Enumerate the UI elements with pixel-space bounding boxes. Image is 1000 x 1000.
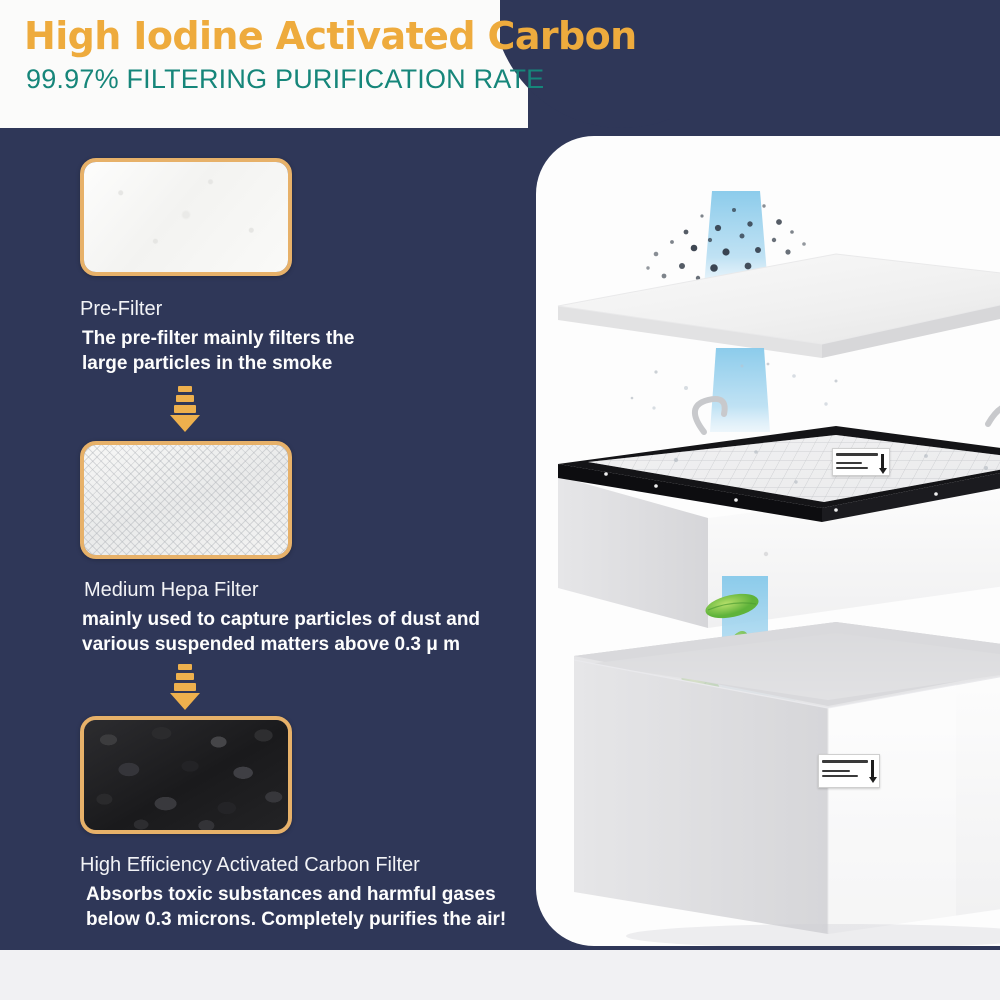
filter-stack-illustration: Medium Carbon Filter Medium Carbon Filte… xyxy=(536,136,1000,946)
product-illustration-card: Medium Carbon Filter Medium Carbon Filte… xyxy=(536,136,1000,946)
activated-carbon-swatch xyxy=(80,716,292,834)
filter-steps-column: Pre-Filter The pre-filter mainly filters… xyxy=(0,96,530,950)
bottom-light-strip xyxy=(0,950,1000,1000)
step-title-carbon-filter: High Efficiency Activated Carbon Filter xyxy=(80,854,420,877)
carbon-box-label-text: Medium Carbon Filter xyxy=(819,777,820,778)
step-body-pre-filter: The pre-filter mainly filters the large … xyxy=(82,326,502,376)
hepa-filter-unit xyxy=(558,399,1000,628)
step-body-line: below 0.3 microns. Completely purifies t… xyxy=(86,907,516,932)
step-body-line: Absorbs toxic substances and harmful gas… xyxy=(86,882,516,907)
page-subtitle: 99.97% FILTERING PURIFICATION RATE xyxy=(26,64,544,95)
carbon-filter-box xyxy=(574,622,1000,934)
step-body-line: large particles in the smoke xyxy=(82,351,502,376)
page-title: High Iodine Activated Carbon xyxy=(24,14,637,58)
step-body-line: mainly used to capture particles of dust… xyxy=(82,607,512,632)
step-body-line: various suspended matters above 0.3 μ m xyxy=(82,632,512,657)
pre-filter-panel xyxy=(558,254,1000,358)
step-body-line: The pre-filter mainly filters the xyxy=(82,326,502,351)
step-body-hepa-filter: mainly used to capture particles of dust… xyxy=(82,607,512,657)
filter-stack-svg xyxy=(536,136,1000,946)
step-title-hepa-filter: Medium Hepa Filter xyxy=(84,579,259,602)
infographic-stage: High Iodine Activated Carbon 99.97% FILT… xyxy=(0,0,1000,1000)
pre-filter-swatch xyxy=(80,158,292,276)
hepa-unit-label-text: Medium Carbon Filter xyxy=(833,469,834,470)
step-body-carbon-filter: Absorbs toxic substances and harmful gas… xyxy=(86,882,516,932)
medium-hepa-filter-swatch xyxy=(80,441,292,559)
pre-filter-texture xyxy=(84,162,288,272)
step-title-pre-filter: Pre-Filter xyxy=(80,298,162,321)
hepa-unit-label: Medium Carbon Filter xyxy=(832,448,890,476)
carbon-granule-texture xyxy=(84,720,288,830)
downward-flow-arrow-icon xyxy=(170,664,200,710)
carbon-box-label: Medium Carbon Filter xyxy=(818,754,880,788)
hepa-mesh-texture xyxy=(84,445,288,555)
downward-flow-arrow-icon xyxy=(170,386,200,432)
